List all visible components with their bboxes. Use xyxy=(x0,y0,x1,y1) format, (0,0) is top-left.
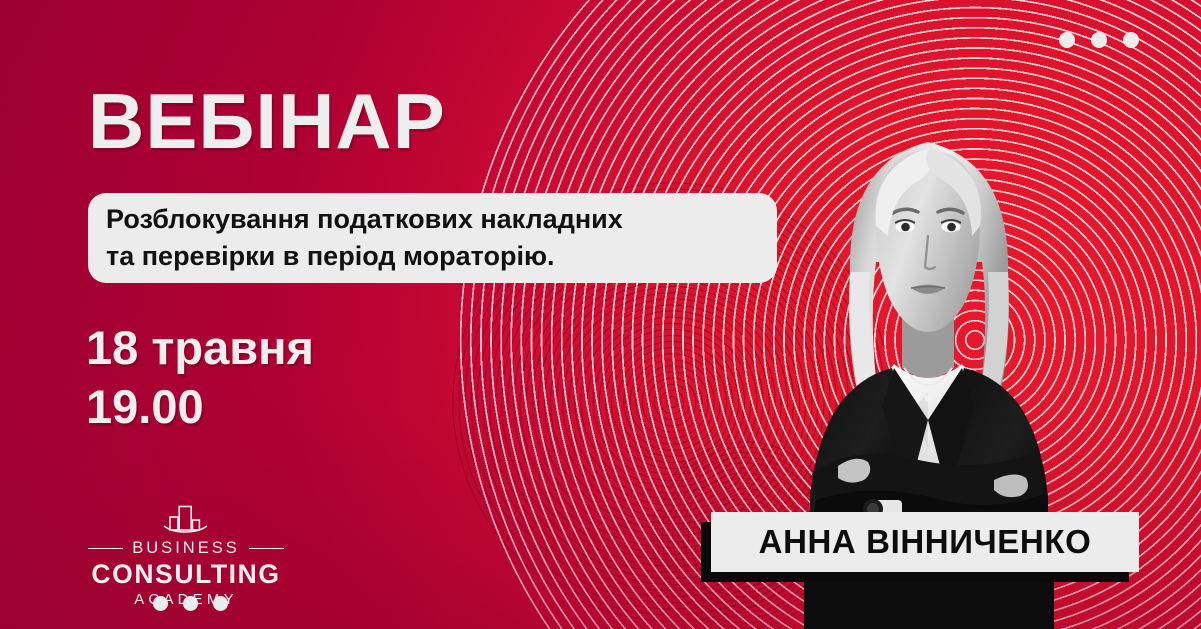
dot-icon xyxy=(1059,32,1075,48)
dot-icon xyxy=(213,596,228,611)
speaker-name-text: АННА ВІННИЧЕНКО xyxy=(759,523,1092,561)
banner-plate: АННА ВІННИЧЕНКО xyxy=(711,512,1139,572)
logo-business-row: BUSINESS xyxy=(88,539,284,558)
building-icon xyxy=(154,503,218,537)
date-time-block: 18 травня 19.00 xyxy=(86,318,314,436)
logo-rule-right xyxy=(249,548,284,550)
subtitle-card: Розблокування податкових накладних та пе… xyxy=(88,193,777,283)
logo-rule-left xyxy=(88,548,123,550)
brand-logo: BUSINESS CONSULTING ACADEMY xyxy=(88,503,284,608)
logo-line-consulting: CONSULTING xyxy=(88,559,284,590)
decor-dots-bottom-left xyxy=(153,596,228,611)
dot-icon xyxy=(153,596,168,611)
dot-icon xyxy=(1091,32,1107,48)
page-title: ВЕБІНАР xyxy=(88,82,446,160)
dot-icon xyxy=(183,596,198,611)
subtitle-line-1: Розблокування податкових накладних xyxy=(106,201,759,238)
speaker-name-banner: АННА ВІННИЧЕНКО xyxy=(701,512,1139,582)
event-date: 18 травня xyxy=(86,318,314,377)
webinar-banner: ВЕБІНАР Розблокування податкових накладн… xyxy=(0,0,1201,629)
dot-icon xyxy=(1123,32,1139,48)
logo-line-business: BUSINESS xyxy=(132,539,239,558)
decor-dots-top-right xyxy=(1059,32,1139,48)
event-time: 19.00 xyxy=(86,377,314,436)
subtitle-line-2: та перевірки в період мораторію. xyxy=(106,238,759,275)
